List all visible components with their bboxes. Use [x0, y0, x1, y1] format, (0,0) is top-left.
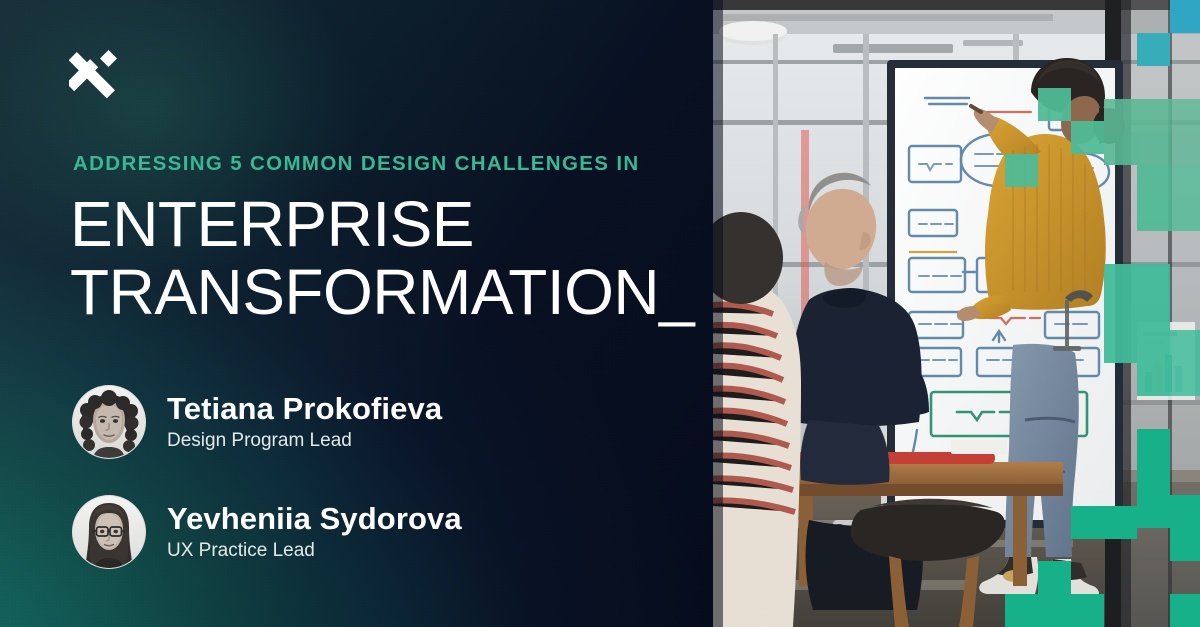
speaker-list: Tetiana Prokofieva Design Program Lead	[72, 383, 632, 603]
title-line-2: TRANSFORMATION_	[70, 258, 710, 326]
page-title: ENTERPRISE TRANSFORMATION_	[70, 190, 710, 326]
list-item: Yevheniia Sydorova UX Practice Lead	[72, 493, 632, 571]
speaker-name: Yevheniia Sydorova	[167, 501, 462, 537]
avatar	[72, 495, 146, 569]
x-mark-logo-icon[interactable]	[69, 47, 127, 105]
office-workshop-photo	[713, 0, 1200, 627]
title-line-1: ENTERPRISE	[70, 190, 710, 258]
speaker-role: Design Program Lead	[167, 429, 442, 453]
eyebrow-text: ADDRESSING 5 COMMON DESIGN CHALLENGES IN	[73, 152, 640, 176]
speaker-info: Yevheniia Sydorova UX Practice Lead	[167, 501, 462, 563]
avatar	[72, 385, 146, 459]
speaker-name: Tetiana Prokofieva	[167, 391, 442, 427]
speaker-info: Tetiana Prokofieva Design Program Lead	[167, 391, 442, 453]
webinar-promo-banner: ADDRESSING 5 COMMON DESIGN CHALLENGES IN…	[0, 0, 1200, 627]
speaker-role: UX Practice Lead	[167, 539, 462, 563]
list-item: Tetiana Prokofieva Design Program Lead	[72, 383, 632, 461]
